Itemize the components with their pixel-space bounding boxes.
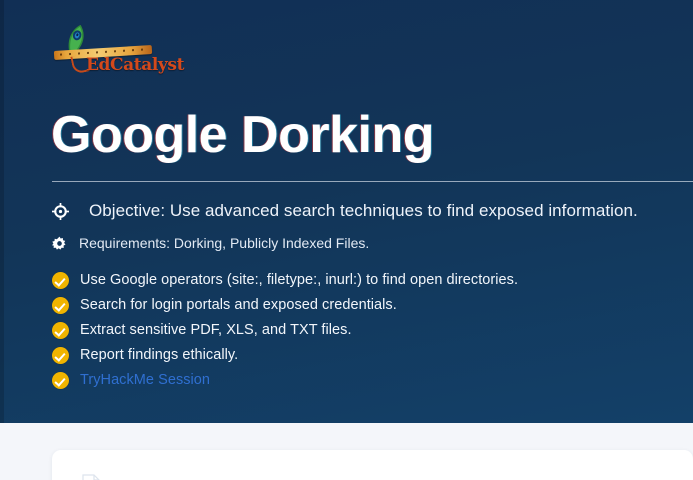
check-circle-icon — [52, 372, 69, 389]
task-item: Report findings ethically. — [52, 343, 672, 367]
gear-icon — [52, 236, 67, 251]
task-item-link[interactable]: TryHackMe Session — [52, 368, 672, 392]
check-circle-icon — [52, 322, 69, 339]
hero-divider — [52, 181, 693, 182]
task-item: Use Google operators (site:, filetype:, … — [52, 268, 672, 292]
task-label: Report findings ethically. — [80, 347, 238, 363]
brand-logo[interactable]: EdCatalyst — [52, 22, 160, 76]
objective-text: Objective: Use advanced search technique… — [89, 201, 638, 221]
requirements-text: Requirements: Dorking, Publicly Indexed … — [79, 235, 369, 251]
task-item: Search for login portals and exposed cre… — [52, 293, 672, 317]
task-label: Search for login portals and exposed cre… — [80, 297, 397, 313]
check-circle-icon — [52, 347, 69, 364]
document-icon — [80, 474, 102, 480]
crosshair-icon — [52, 203, 69, 220]
requirements-row: Requirements: Dorking, Publicly Indexed … — [52, 235, 369, 251]
tryhackme-session-link[interactable]: TryHackMe Session — [80, 372, 210, 388]
hero-section: EdCatalyst Google Dorking Objective: Use… — [0, 0, 693, 423]
page-title: Google Dorking — [51, 108, 434, 163]
task-label: Use Google operators (site:, filetype:, … — [80, 272, 518, 288]
task-label: Extract sensitive PDF, XLS, and TXT file… — [80, 322, 352, 338]
page-root: EdCatalyst Google Dorking Objective: Use… — [0, 0, 693, 480]
hero-left-edge-strip — [0, 0, 4, 423]
content-card — [52, 450, 693, 480]
check-circle-icon — [52, 297, 69, 314]
objective-row: Objective: Use advanced search technique… — [52, 201, 638, 221]
task-list: Use Google operators (site:, filetype:, … — [52, 268, 672, 393]
check-circle-icon — [52, 272, 69, 289]
task-item: Extract sensitive PDF, XLS, and TXT file… — [52, 318, 672, 342]
brand-name: EdCatalyst — [86, 55, 184, 75]
